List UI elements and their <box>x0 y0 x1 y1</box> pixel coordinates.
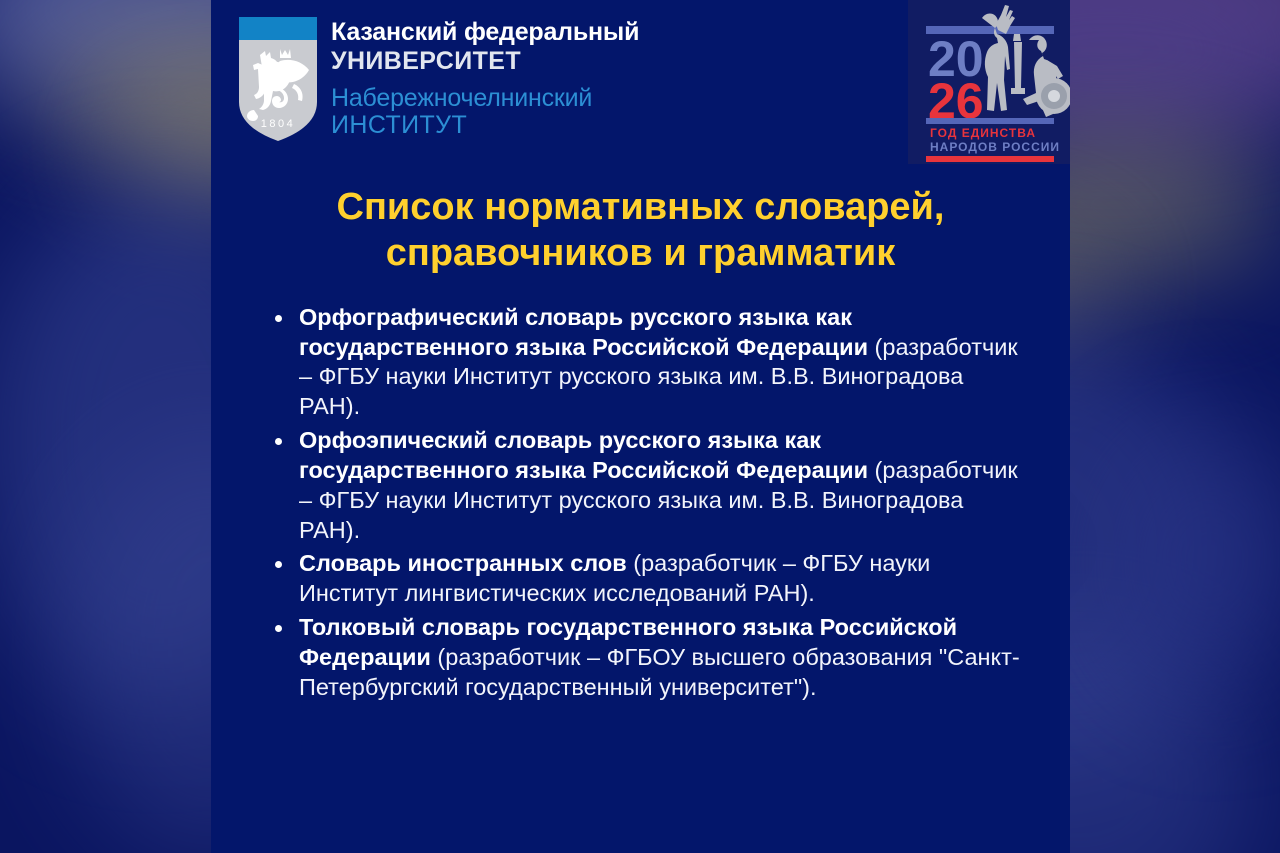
bullet-dot-icon <box>275 315 282 322</box>
emblem-caption-line1: ГОД ЕДИНСТВА <box>930 126 1036 140</box>
kfu-shield-icon: 1804 <box>236 14 320 144</box>
bullet-dot-icon <box>275 625 282 632</box>
emblem-caption-line2: НАРОДОВ РОССИИ <box>930 140 1060 154</box>
slide-title-line2: справочников и грамматик <box>386 232 896 274</box>
list-item: Орфоэпический словарь русского языка как… <box>263 426 1022 545</box>
list-item: Толковый словарь государственного языка … <box>263 613 1022 703</box>
university-name-line1: Казанский федеральный <box>331 20 639 45</box>
list-item: Орфографический словарь русского языка к… <box>263 303 1022 422</box>
bullet-dot-icon <box>275 438 282 445</box>
list-item: Словарь иностранных слов (разработчик – … <box>263 549 1022 609</box>
slide-panel: 1804 Казанский федеральный УНИВЕРСИТЕТ Н… <box>211 0 1070 853</box>
slide-title-line1: Список нормативных словарей, <box>337 186 945 228</box>
slide-title: Список нормативных словарей, справочнико… <box>251 184 1030 277</box>
bullet-dot-icon <box>275 561 282 568</box>
dictionary-list: Орфографический словарь русского языка к… <box>263 303 1022 703</box>
university-name-line2: УНИВЕРСИТЕТ <box>331 49 639 74</box>
list-item-title: Орфоэпический словарь русского языка как… <box>299 427 868 483</box>
institute-name-line1: Набережночелнинский <box>331 86 639 111</box>
kfu-wordmark: Казанский федеральный УНИВЕРСИТЕТ Набере… <box>331 20 639 138</box>
list-item-title: Словарь иностранных слов <box>299 550 627 576</box>
list-item-title: Орфографический словарь русского языка к… <box>299 304 868 360</box>
shield-year: 1804 <box>261 118 295 130</box>
slide-header: 1804 Казанский федеральный УНИВЕРСИТЕТ Н… <box>211 0 1070 170</box>
institute-name-line2: ИНСТИТУТ <box>331 113 639 138</box>
year-2026-emblem-icon: 20 26 <box>908 0 1070 164</box>
